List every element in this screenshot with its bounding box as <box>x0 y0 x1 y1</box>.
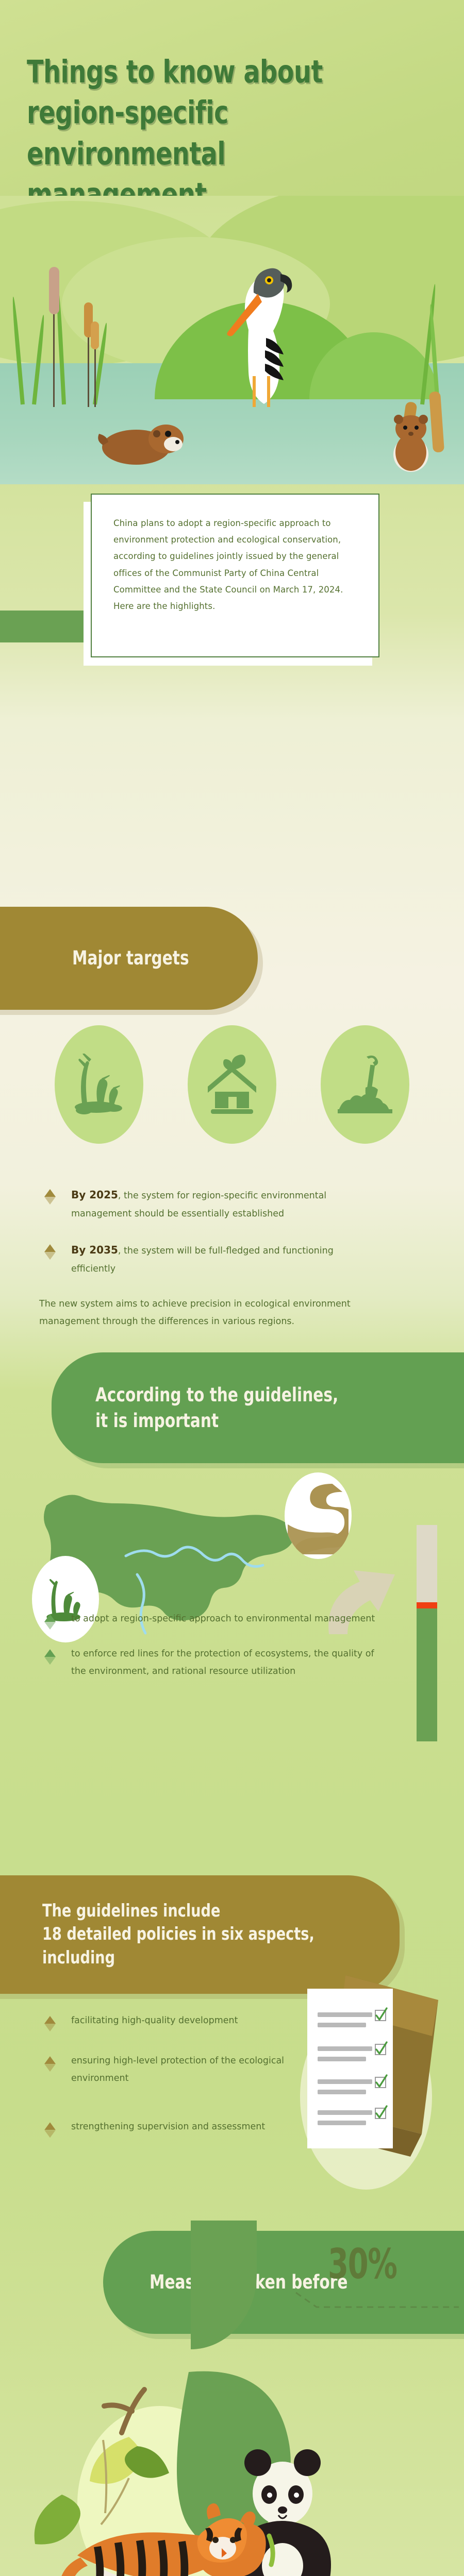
stork-bird-icon <box>219 237 296 407</box>
bullet-lead: By 2035 <box>71 1244 118 1256</box>
bullet-item: By 2035, the system will be full-fledged… <box>39 1240 379 1278</box>
wetland-illustration <box>0 196 464 484</box>
diamond-bullet-icon <box>44 1189 56 1205</box>
banner-label-guidelines-line1: According to the guidelines, <box>95 1384 338 1406</box>
banner-label-policies-line1: The guidelines include <box>42 1901 220 1921</box>
bullet-item: to adopt a region-specific approach to e… <box>39 1610 379 1628</box>
major-targets-bullets: By 2025, the system for region-specific … <box>39 1185 379 1331</box>
checklist-clipboard-icon <box>284 1968 454 2257</box>
cattail-head-icon <box>91 321 99 349</box>
checklist-illustration <box>284 1968 454 2257</box>
diamond-bullet-icon <box>44 2056 56 2072</box>
page-title: Things to know about region-specific env… <box>27 52 349 215</box>
major-targets-note: The new system aims to achieve precision… <box>39 1295 379 1330</box>
otter-icon <box>383 405 439 472</box>
bullet-text: to enforce red lines for the protection … <box>71 1645 379 1680</box>
page-title-line2: region-specific <box>27 94 228 131</box>
wildlife-illustration: 30% <box>0 2349 464 2576</box>
diamond-bullet-icon <box>44 2016 56 2031</box>
diamond-bullet-icon <box>44 1614 56 1630</box>
icon-oval-eco-house <box>188 1025 276 1144</box>
major-targets-icon-row <box>0 1025 464 1149</box>
infographic-page: Things to know about region-specific env… <box>0 0 464 2576</box>
bullet-text: strengthening supervision and assessment <box>71 2118 431 2136</box>
bullet-item: to enforce red lines for the protection … <box>39 1645 379 1680</box>
banner-label-policies-line3: including <box>42 1947 115 1968</box>
bullet-text: facilitating high-quality development <box>71 2012 307 2029</box>
banner-label-major-targets: Major targets <box>72 945 221 971</box>
diamond-bullet-icon <box>44 1244 56 1260</box>
cattail-head-icon <box>49 267 59 314</box>
thermometer-fill <box>417 1608 437 1741</box>
thermometer-red-line <box>417 1602 437 1608</box>
bullet-text: By 2025, the system for region-specific … <box>71 1185 379 1223</box>
bullet-text: to adopt a region-specific approach to e… <box>71 1610 379 1628</box>
progress-thermometer <box>417 1525 437 1741</box>
guidelines-bullets: to adopt a region-specific approach to e… <box>39 1610 379 1698</box>
eco-house-icon <box>204 1054 260 1115</box>
page-title-line1: Things to know about <box>27 54 323 90</box>
intro-quote-block: China plans to adopt a region-specific a… <box>0 474 464 690</box>
section-banner-major-targets: Major targets <box>0 907 258 1010</box>
tiger-panda-scene-icon <box>0 2349 464 2576</box>
icon-oval-wetland-birds <box>55 1025 143 1144</box>
intro-paragraph: China plans to adopt a region-specific a… <box>113 515 357 615</box>
icon-oval-shovel <box>321 1025 409 1144</box>
bullet-lead: By 2025 <box>71 1189 118 1201</box>
bullet-item: By 2025, the system for region-specific … <box>39 1185 379 1223</box>
banner-label-guidelines-line2: it is important <box>95 1410 219 1432</box>
banner-label-policies-line2: 18 detailed policies in six aspects, <box>42 1924 314 1944</box>
policies-bullets: facilitating high-quality development en… <box>39 2012 307 2154</box>
shovel-soil-icon <box>337 1054 393 1115</box>
bullet-item: facilitating high-quality development <box>39 2012 307 2029</box>
diamond-bullet-icon <box>44 1649 56 1665</box>
bullet-item: strengthening supervision and assessment <box>39 2118 431 2136</box>
intro-quote-box: China plans to adopt a region-specific a… <box>91 494 379 657</box>
otter-icon <box>96 408 189 470</box>
callout-value-30: 30% <box>328 2240 397 2288</box>
section-banner-guidelines: According to the guidelines, it is impor… <box>52 1352 464 1463</box>
leader-line-30 <box>292 2291 462 2311</box>
bullet-text: ensuring high-level protection of the ec… <box>71 2052 307 2087</box>
bullet-item: ensuring high-level protection of the ec… <box>39 2052 307 2087</box>
wetland-birds-icon <box>71 1054 127 1115</box>
diamond-bullet-icon <box>44 2122 56 2138</box>
bullet-text: By 2035, the system will be full-fledged… <box>71 1240 379 1278</box>
